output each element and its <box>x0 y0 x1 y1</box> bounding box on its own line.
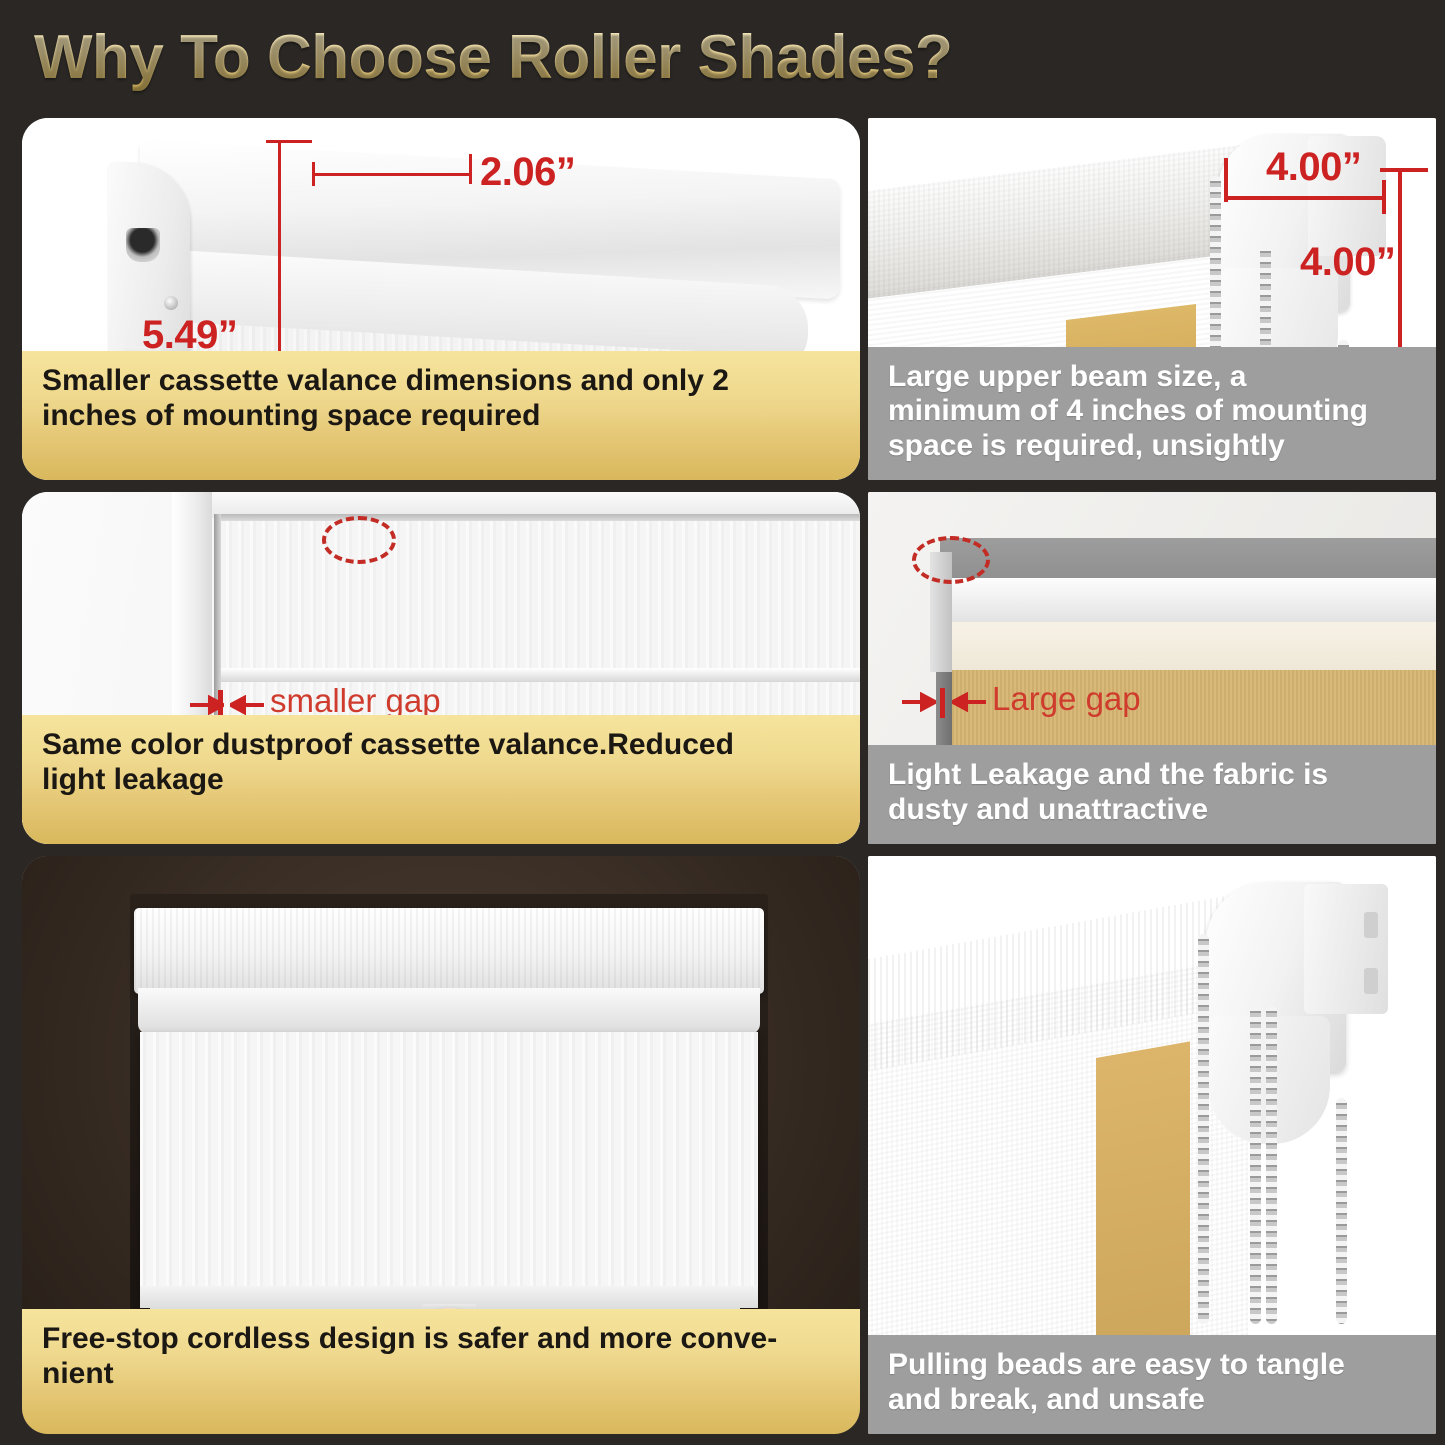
bead-chain <box>1266 1006 1277 1324</box>
caption-line: minimum of 4 inches of mounting <box>888 394 1416 429</box>
caption-traditional-pull-beads: Pulling beads are easy to tangle and bre… <box>868 1335 1436 1434</box>
page-title: Why To Choose Roller Shades? <box>34 22 952 93</box>
caption-traditional-light-leakage: Light Leakage and the fabric is dusty an… <box>868 745 1436 844</box>
caption-line: light leakage <box>42 763 840 798</box>
caption-line: Light Leakage and the fabric is <box>888 758 1416 793</box>
height-tick-top <box>266 140 312 143</box>
comparison-grid: 5.49” 2.06” Smaller cassette valance dim… <box>0 108 1445 1445</box>
panel-traditional-light-leakage: Large gap Light Leakage and the fabric i… <box>868 492 1436 844</box>
panel-roller-cordless-design: Free-stop cordless design is safer and m… <box>22 856 860 1434</box>
width-tick-right <box>1382 180 1386 214</box>
highlight-circle-icon <box>912 536 990 584</box>
caption-traditional-upper-beam: Large upper beam size, a minimum of 4 in… <box>868 347 1436 480</box>
caption-line: Large upper beam size, a <box>888 360 1416 395</box>
gap-marker <box>940 688 945 718</box>
panel-traditional-upper-beam: 4.00” 4.00” Large upper beam size, a min… <box>868 118 1436 480</box>
depth-tick-left <box>312 162 315 186</box>
caption-line: space is required, unsightly <box>888 429 1416 464</box>
panel-traditional-pull-beads: Pulling beads are easy to tangle and bre… <box>868 856 1436 1434</box>
page-header: Why To Choose Roller Shades? <box>0 0 1445 108</box>
caption-line: Free-stop cordless design is safer and m… <box>42 1322 840 1357</box>
caption-line: Smaller cassette valance dimensions and … <box>42 364 840 399</box>
bead-chain <box>1250 1006 1261 1324</box>
caption-roller-dustproof-valance: Same color dustproof cassette valance.Re… <box>22 715 860 844</box>
highlight-circle-icon <box>322 516 396 564</box>
caption-line: dusty and unattractive <box>888 793 1416 828</box>
width-dimension-line <box>1226 196 1384 200</box>
depth-tick-right <box>469 154 472 184</box>
panel-roller-cassette-dimensions: 5.49” 2.06” Smaller cassette valance dim… <box>22 118 860 480</box>
caption-line: nient <box>42 1357 840 1392</box>
caption-line: Pulling beads are easy to tangle <box>888 1348 1416 1383</box>
caption-line: Same color dustproof cassette valance.Re… <box>42 728 840 763</box>
width-tick-left <box>1224 158 1228 202</box>
depth-dimension-line <box>312 173 472 176</box>
height-tick-top <box>1380 168 1428 172</box>
bead-chain <box>1198 934 1209 1324</box>
caption-roller-cordless-design: Free-stop cordless design is safer and m… <box>22 1309 860 1434</box>
caption-roller-cassette-dimensions: Smaller cassette valance dimensions and … <box>22 351 860 480</box>
caption-line: and break, and unsafe <box>888 1383 1416 1418</box>
bead-chain <box>1336 1098 1347 1324</box>
panel-roller-dustproof-valance: smaller gap Same color dustproof cassett… <box>22 492 860 844</box>
caption-line: inches of mounting space required <box>42 399 840 434</box>
height-dimension-line <box>1398 168 1402 368</box>
